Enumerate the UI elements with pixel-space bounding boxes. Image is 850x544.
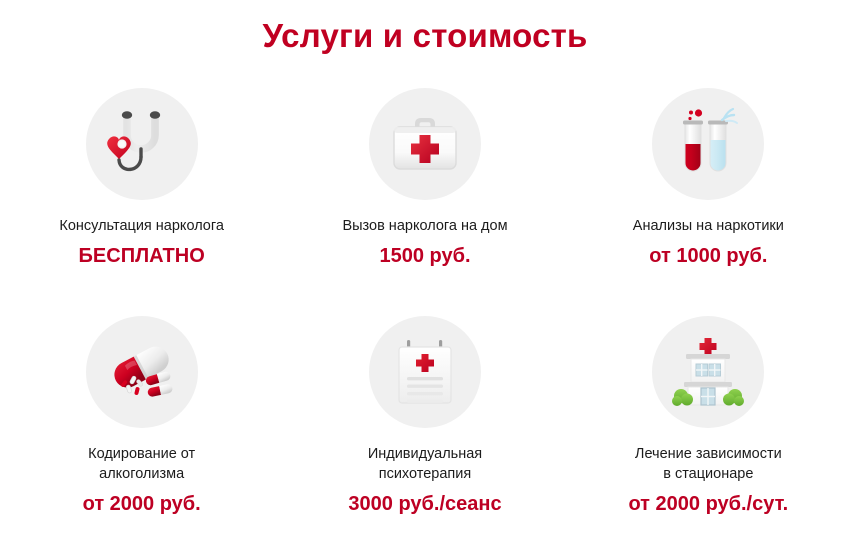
service-label: Вызов нарколога на дом bbox=[342, 216, 507, 236]
icon-circle bbox=[369, 316, 481, 428]
service-card-drug-tests[interactable]: Анализы на наркотики от 1000 руб. bbox=[567, 88, 850, 316]
icon-circle bbox=[86, 88, 198, 200]
service-label: Лечение зависимости в стационаре bbox=[635, 444, 782, 484]
page-title: Услуги и стоимость bbox=[0, 14, 850, 58]
service-card-inpatient[interactable]: Лечение зависимости в стационаре от 2000… bbox=[567, 316, 850, 544]
capsules-pills-icon bbox=[100, 330, 184, 414]
service-label: Анализы на наркотики bbox=[633, 216, 784, 236]
services-grid: Консультация нарколога БЕСПЛАТНО bbox=[0, 88, 850, 544]
service-card-coding[interactable]: Кодирование от алкоголизма от 2000 руб. bbox=[0, 316, 283, 544]
icon-circle bbox=[652, 88, 764, 200]
service-price: от 2000 руб./сут. bbox=[628, 491, 788, 517]
medical-chart-icon bbox=[383, 330, 467, 414]
icon-circle bbox=[86, 316, 198, 428]
service-label: Консультация нарколога bbox=[59, 216, 224, 236]
service-card-consultation[interactable]: Консультация нарколога БЕСПЛАТНО bbox=[0, 88, 283, 316]
services-pricing-page: Услуги и стоимость bbox=[0, 0, 850, 539]
service-label: Индивидуальная психотерапия bbox=[368, 444, 482, 484]
test-tubes-icon bbox=[666, 102, 750, 186]
hospital-building-icon bbox=[666, 330, 750, 414]
service-label: Кодирование от алкоголизма bbox=[88, 444, 195, 484]
service-price: 1500 руб. bbox=[379, 243, 470, 269]
first-aid-kit-icon bbox=[383, 102, 467, 186]
icon-circle bbox=[652, 316, 764, 428]
service-price: от 2000 руб. bbox=[83, 491, 201, 517]
service-price: 3000 руб./сеанс bbox=[348, 491, 501, 517]
service-price: БЕСПЛАТНО bbox=[79, 243, 205, 269]
service-price: от 1000 руб. bbox=[649, 243, 767, 269]
service-card-home-visit[interactable]: Вызов нарколога на дом 1500 руб. bbox=[283, 88, 566, 316]
stethoscope-heart-icon bbox=[100, 102, 184, 186]
icon-circle bbox=[369, 88, 481, 200]
service-card-psychotherapy[interactable]: Индивидуальная психотерапия 3000 руб./се… bbox=[283, 316, 566, 544]
